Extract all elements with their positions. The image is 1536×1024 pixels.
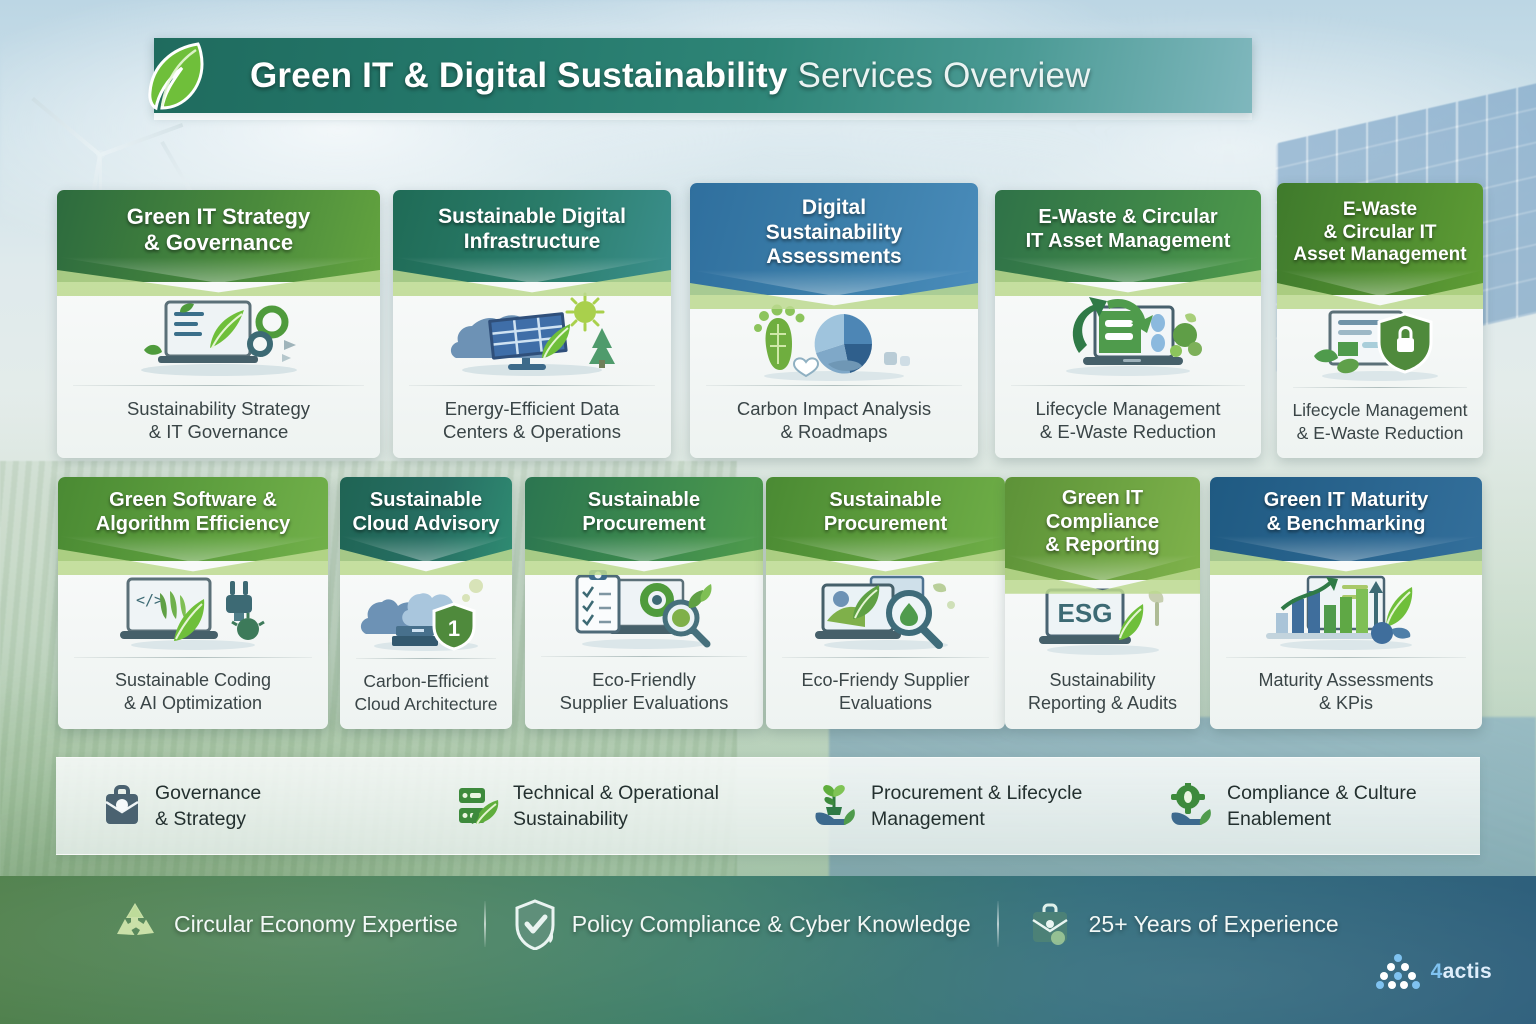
briefcase-icon: [1025, 899, 1075, 949]
card-subtitle: Carbon-EfficientCloud Architecture: [340, 659, 512, 729]
card-title: SustainableProcurement: [824, 489, 947, 536]
brand-name: 4actis: [1431, 960, 1492, 984]
svg-text:ESG: ESG: [1057, 598, 1112, 628]
dots-triangle-logo: [1375, 952, 1421, 992]
card-digital-sustainability-assessments[interactable]: DigitalSustainabilityAssessments: [690, 183, 978, 458]
card-ewaste-circular-it-asset-management-2[interactable]: E-Waste& Circular ITAsset Management Lif…: [1277, 183, 1483, 458]
card-header: Green ITCompliance& Reporting: [1005, 477, 1200, 580]
trust-badge-label: Circular Economy Expertise: [174, 911, 458, 938]
trust-badge-label: 25+ Years of Experience: [1089, 911, 1339, 938]
title-bar: Green IT & Digital Sustainability Servic…: [154, 38, 1252, 113]
card-subtitle: Lifecycle Management& E-Waste Reduction: [995, 386, 1261, 458]
shield-check-icon: [512, 898, 558, 950]
card-subtitle: SustainabilityReporting & Audits: [1005, 658, 1200, 729]
footer-bar: Circular Economy Expertise Policy Compli…: [0, 876, 1536, 1024]
card-subtitle: Lifecycle Management& E-Waste Reduction: [1277, 388, 1483, 458]
code-laptop-leaf-plug-icon: </>: [58, 561, 328, 657]
bar-chart-arrow-leaf-icon: [1210, 561, 1482, 657]
hand-gear-leaf-icon: [1168, 783, 1216, 829]
category-label: Technical & OperationalSustainability: [513, 780, 719, 833]
card-subtitle: Sustainability Strategy& IT Governance: [57, 386, 380, 458]
recycle-icon: [110, 899, 160, 949]
brand-name-prefix: 4: [1431, 960, 1443, 983]
recycle-laptop-icon: [995, 282, 1261, 385]
infographic-canvas: Green IT & Digital Sustainability Servic…: [0, 0, 1536, 1024]
card-title: E-Waste& Circular ITAsset Management: [1293, 199, 1466, 266]
card-title: Green IT Strategy& Governance: [127, 204, 310, 256]
page-title: Green IT & Digital Sustainability Servic…: [250, 56, 1091, 96]
card-sustainable-digital-infrastructure[interactable]: Sustainable DigitalInfrastructure: [393, 190, 671, 458]
card-ewaste-circular-it-asset-management[interactable]: E-Waste & CircularIT Asset Management: [995, 190, 1261, 458]
brand-logo: 4actis: [1375, 952, 1492, 992]
category-label: Governance& Strategy: [155, 780, 261, 833]
card-header: Green IT Maturity& Benchmarking: [1210, 477, 1482, 561]
card-title: SustainableCloud Advisory: [352, 489, 499, 536]
card-header: E-Waste & CircularIT Asset Management: [995, 190, 1261, 282]
card-subtitle: Maturity Assessments& KPis: [1210, 658, 1482, 729]
cloud-server-shield-icon: 1: [340, 561, 512, 658]
card-header: Sustainable DigitalInfrastructure: [393, 190, 671, 282]
card-green-it-strategy[interactable]: Green IT Strategy& Governance: [57, 190, 380, 458]
card-sustainable-procurement-2[interactable]: SustainableProcurement Eco-Friendy Sup: [766, 477, 1005, 729]
trust-badge-policy-compliance[interactable]: Policy Compliance & Cyber Knowledge: [512, 898, 971, 950]
category-technical-operational-sustainability[interactable]: Technical & OperationalSustainability: [412, 780, 768, 833]
server-leaf-icon: [456, 784, 502, 828]
card-header: SustainableProcurement: [525, 477, 763, 561]
card-title: Green IT Maturity& Benchmarking: [1264, 489, 1428, 536]
category-procurement-lifecycle-management[interactable]: Procurement & LifecycleManagement: [768, 780, 1124, 833]
card-green-software-algorithm-efficiency[interactable]: Green Software &Algorithm Efficiency </>: [58, 477, 328, 729]
card-title: Green ITCompliance& Reporting: [1045, 487, 1159, 558]
card-subtitle: Carbon Impact Analysis& Roadmaps: [690, 386, 978, 458]
svg-text:1: 1: [448, 616, 460, 641]
card-green-it-compliance-reporting[interactable]: Green ITCompliance& Reporting ESG Sustai…: [1005, 477, 1200, 729]
category-strip: Governance& Strategy Technical & Operati…: [56, 757, 1480, 855]
laptop-leaf-gears-icon: [57, 282, 380, 385]
card-header: SustainableCloud Advisory: [340, 477, 512, 561]
category-governance-strategy[interactable]: Governance& Strategy: [56, 780, 412, 833]
category-label: Procurement & LifecycleManagement: [871, 780, 1082, 833]
card-sustainable-cloud-advisory[interactable]: SustainableCloud Advisory 1 Carbon-Effic…: [340, 477, 512, 729]
card-title: DigitalSustainabilityAssessments: [766, 196, 903, 270]
brand-name-rest: actis: [1443, 960, 1492, 983]
monitor-leaf-magnifier-icon: [766, 561, 1005, 657]
card-header: E-Waste& Circular ITAsset Management: [1277, 183, 1483, 295]
card-header: DigitalSustainabilityAssessments: [690, 183, 978, 295]
card-header: Green Software &Algorithm Efficiency: [58, 477, 328, 561]
card-title: Green Software &Algorithm Efficiency: [96, 489, 290, 536]
card-header: Green IT Strategy& Governance: [57, 190, 380, 282]
card-sustainable-procurement[interactable]: SustainableProcurement: [525, 477, 763, 729]
divider: [997, 901, 999, 947]
card-subtitle: Energy-Efficient DataCenters & Operation…: [393, 386, 671, 458]
trust-badges-row: Circular Economy Expertise Policy Compli…: [110, 898, 1339, 950]
page-title-light: Services Overview: [788, 56, 1091, 95]
leaf-icon: [136, 36, 214, 114]
card-title: SustainableProcurement: [582, 489, 705, 536]
card-subtitle: Eco-FriendlySupplier Evaluations: [525, 657, 763, 729]
divider: [484, 901, 486, 947]
category-label: Compliance & CultureEnablement: [1227, 780, 1417, 833]
svg-text:</>: </>: [136, 591, 163, 609]
card-green-it-maturity-benchmarking[interactable]: Green IT Maturity& Benchmarking: [1210, 477, 1482, 729]
clipboard-gear-magnifier-icon: [525, 561, 763, 656]
trust-badge-circular-economy[interactable]: Circular Economy Expertise: [110, 899, 458, 949]
category-compliance-culture-enablement[interactable]: Compliance & CultureEnablement: [1124, 780, 1480, 833]
card-subtitle: Sustainable Coding& AI Optimization: [58, 658, 328, 729]
hand-sprout-icon: [812, 783, 860, 829]
card-subtitle: Eco-Friendy SupplierEvaluations: [766, 658, 1005, 729]
card-header: SustainableProcurement: [766, 477, 1005, 561]
card-title: Sustainable DigitalInfrastructure: [438, 205, 626, 255]
trust-badge-label: Policy Compliance & Cyber Knowledge: [572, 911, 971, 938]
solar-cloud-leaf-icon: [393, 282, 671, 385]
trust-badge-experience[interactable]: 25+ Years of Experience: [1025, 899, 1339, 949]
briefcase-icon: [100, 784, 144, 828]
page-title-strong: Green IT & Digital Sustainability: [250, 56, 788, 95]
card-title: E-Waste & CircularIT Asset Management: [1026, 206, 1231, 253]
